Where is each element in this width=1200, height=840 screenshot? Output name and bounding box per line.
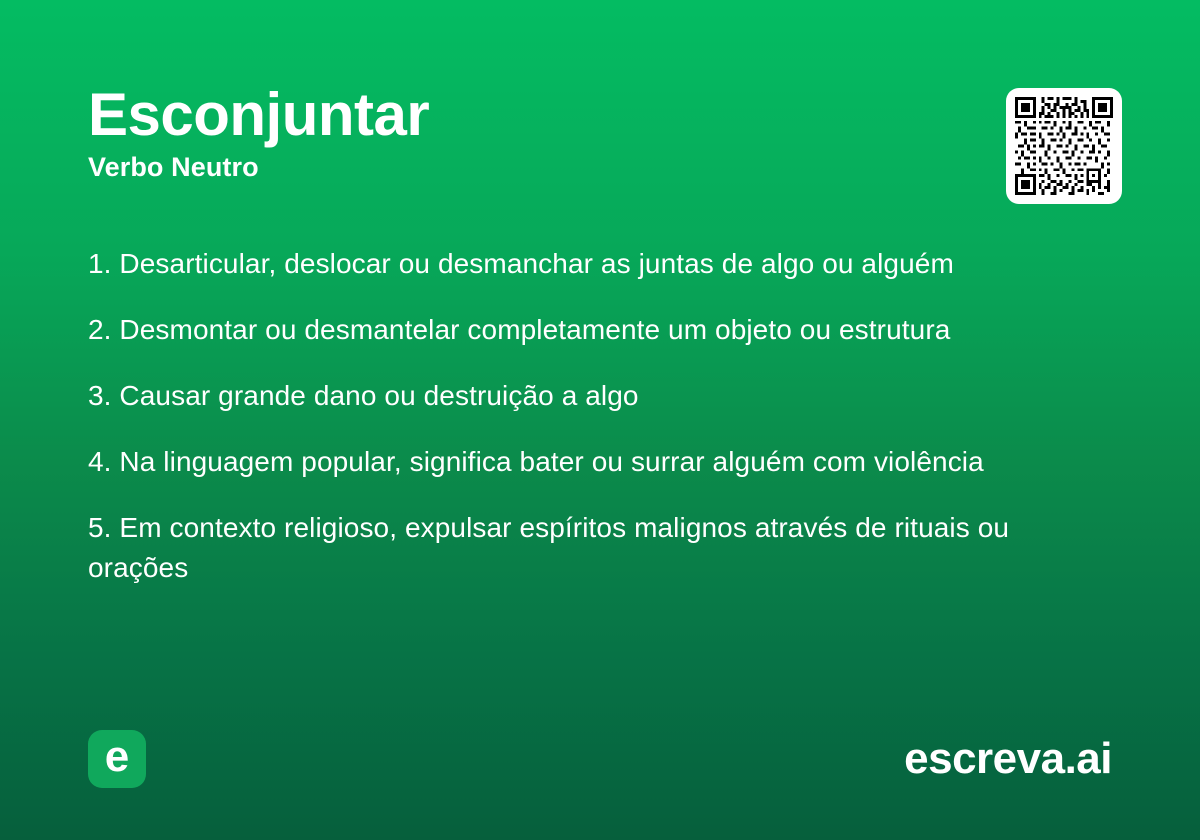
word-class-label: Verbo Neutro (88, 152, 1112, 183)
list-item: 2. Desmontar ou desmantelar completament… (88, 310, 1088, 350)
brand-wordmark: escreva.ai (904, 734, 1112, 784)
list-item: 3. Causar grande dano ou destruição a al… (88, 376, 1088, 416)
escreva-logo-icon: e (88, 730, 146, 788)
card-header: Esconjuntar Verbo Neutro (88, 84, 1112, 183)
list-item: 1. Desarticular, deslocar ou desmanchar … (88, 244, 1088, 284)
page-title: Esconjuntar (88, 84, 1112, 146)
list-item: 4. Na linguagem popular, significa bater… (88, 442, 1088, 482)
definition-card: Esconjuntar Verbo Neutro (0, 0, 1200, 840)
logo-letter: e (105, 735, 129, 779)
definition-list: 1. Desarticular, deslocar ou desmanchar … (88, 244, 1088, 588)
qr-code-icon[interactable] (1006, 88, 1122, 204)
card-footer: e escreva.ai (88, 730, 1112, 788)
list-item: 5. Em contexto religioso, expulsar espír… (88, 508, 1088, 588)
